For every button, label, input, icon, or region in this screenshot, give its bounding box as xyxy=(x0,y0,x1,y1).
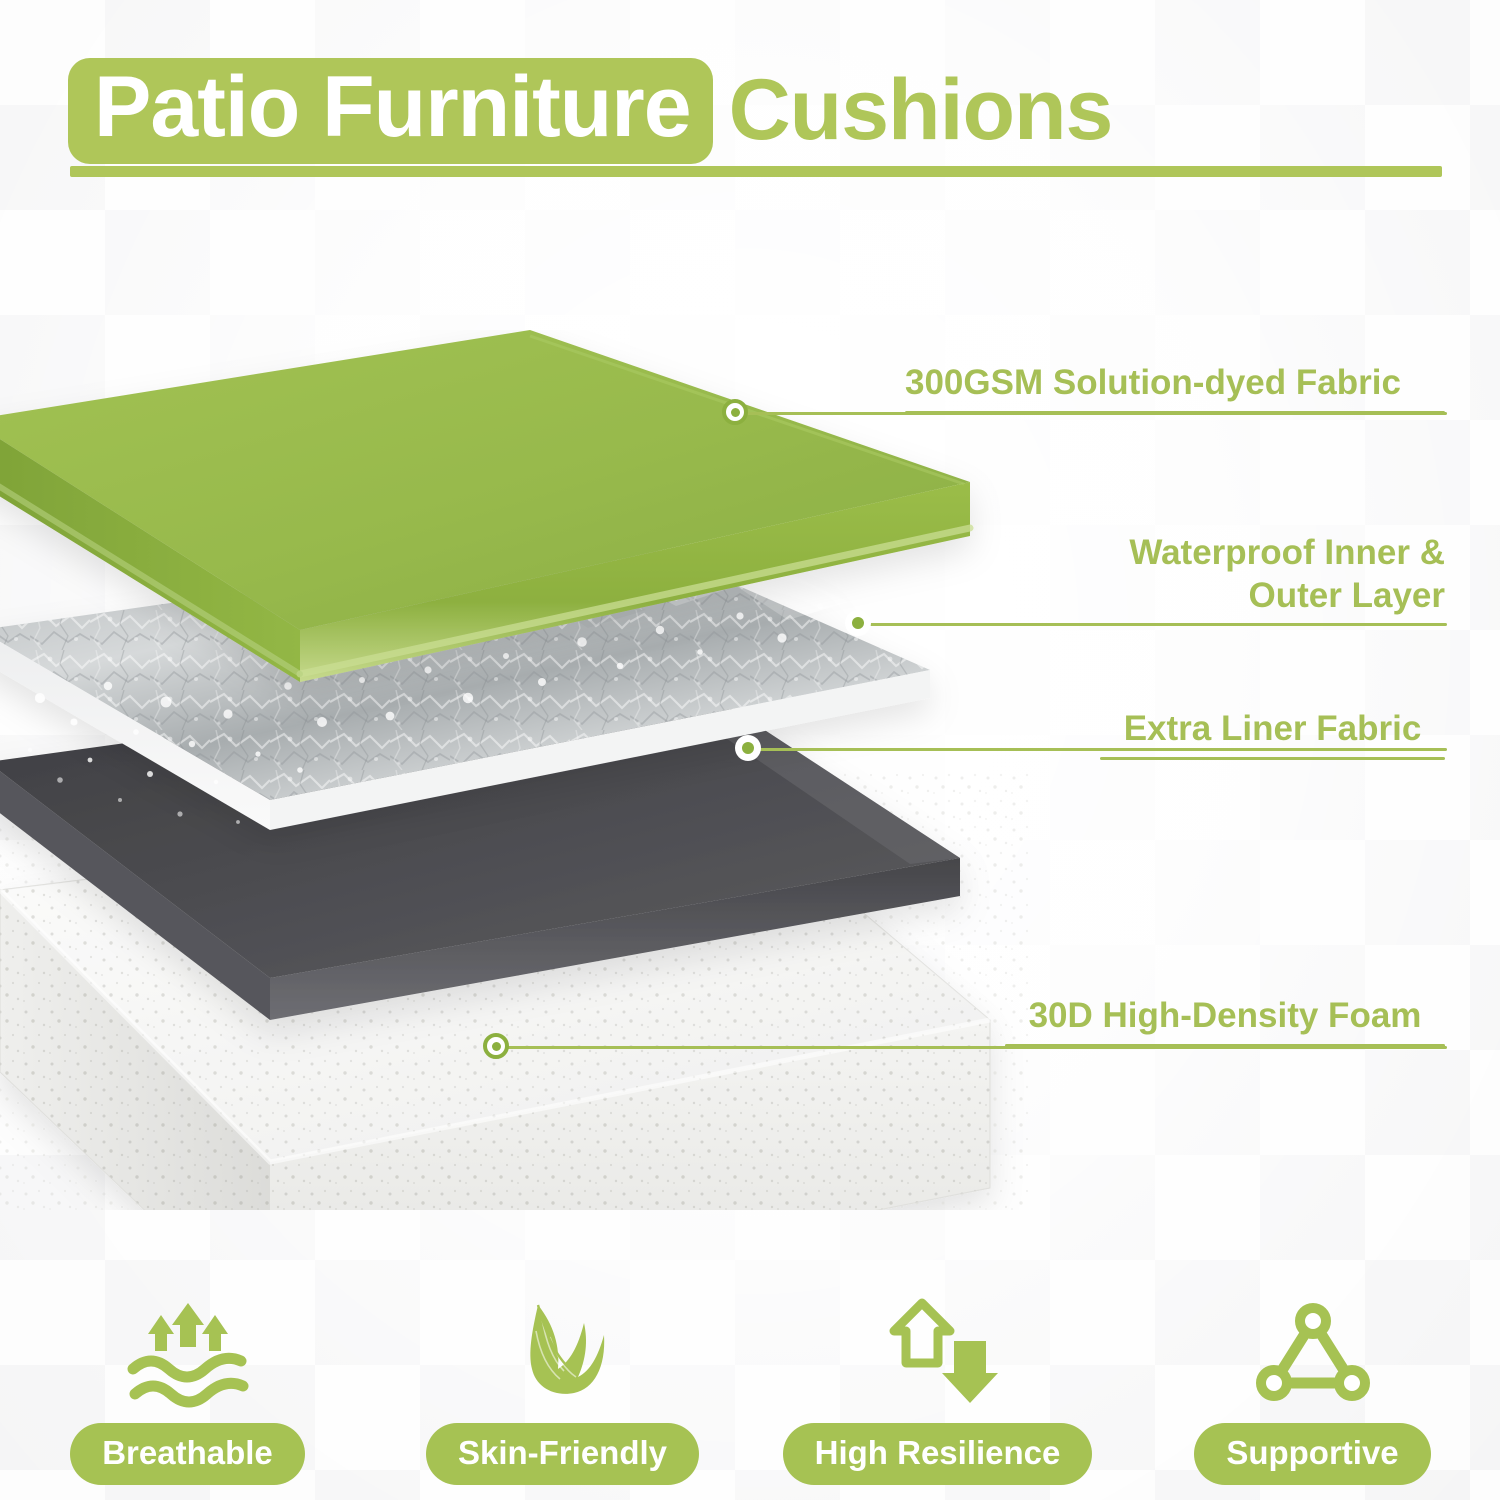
title-highlight: Patio Furniture xyxy=(68,58,713,164)
title-underline-bar xyxy=(70,166,1442,177)
up-down-arrows-icon xyxy=(878,1297,998,1409)
callout-fabric: 300GSM Solution-dyed Fabric xyxy=(905,362,1445,414)
feature-label: Supportive xyxy=(1194,1423,1430,1485)
callout-label: 300GSM Solution-dyed Fabric xyxy=(905,362,1445,405)
feature-label: Skin-Friendly xyxy=(426,1423,699,1485)
exploded-cushion-illustration xyxy=(0,330,1030,1210)
breathable-arrows-waves-icon xyxy=(123,1297,253,1409)
page-title: Patio Furniture Cushions xyxy=(68,58,1112,164)
callout-liner: Extra Liner Fabric xyxy=(1100,708,1445,760)
title-plain: Cushions xyxy=(713,67,1113,155)
callout-label: Waterproof Inner & Outer Layer xyxy=(1055,532,1445,617)
callout-marker-fabric xyxy=(722,399,748,425)
feature-breathable: Breathable xyxy=(0,1255,375,1485)
callout-underline xyxy=(1100,757,1445,760)
callout-waterproof: Waterproof Inner & Outer Layer xyxy=(1055,532,1445,626)
callout-foam: 30D High-Density Foam xyxy=(1005,995,1445,1047)
feature-label: High Resilience xyxy=(783,1423,1093,1485)
callout-label: Extra Liner Fabric xyxy=(1100,708,1445,751)
callout-marker-foam xyxy=(483,1033,509,1059)
callout-marker-liner xyxy=(735,735,761,761)
feature-supportive: Supportive xyxy=(1125,1255,1500,1485)
feature-skin-friendly: Skin-Friendly xyxy=(375,1255,750,1485)
header: Patio Furniture Cushions xyxy=(0,0,1500,200)
feather-icon xyxy=(498,1297,628,1409)
feature-badge-row: Breathable Skin-Friendly xyxy=(0,1255,1500,1485)
feature-label: Breathable xyxy=(70,1423,305,1485)
callout-underline xyxy=(905,411,1445,414)
callout-label: 30D High-Density Foam xyxy=(1005,995,1445,1038)
infographic-canvas: Patio Furniture Cushions xyxy=(0,0,1500,1500)
callout-underline xyxy=(1005,1044,1445,1047)
callout-marker-waterproof xyxy=(845,610,871,636)
feature-high-resilience: High Resilience xyxy=(750,1255,1125,1485)
callout-underline xyxy=(1055,623,1445,626)
triangle-nodes-icon xyxy=(1254,1297,1372,1409)
